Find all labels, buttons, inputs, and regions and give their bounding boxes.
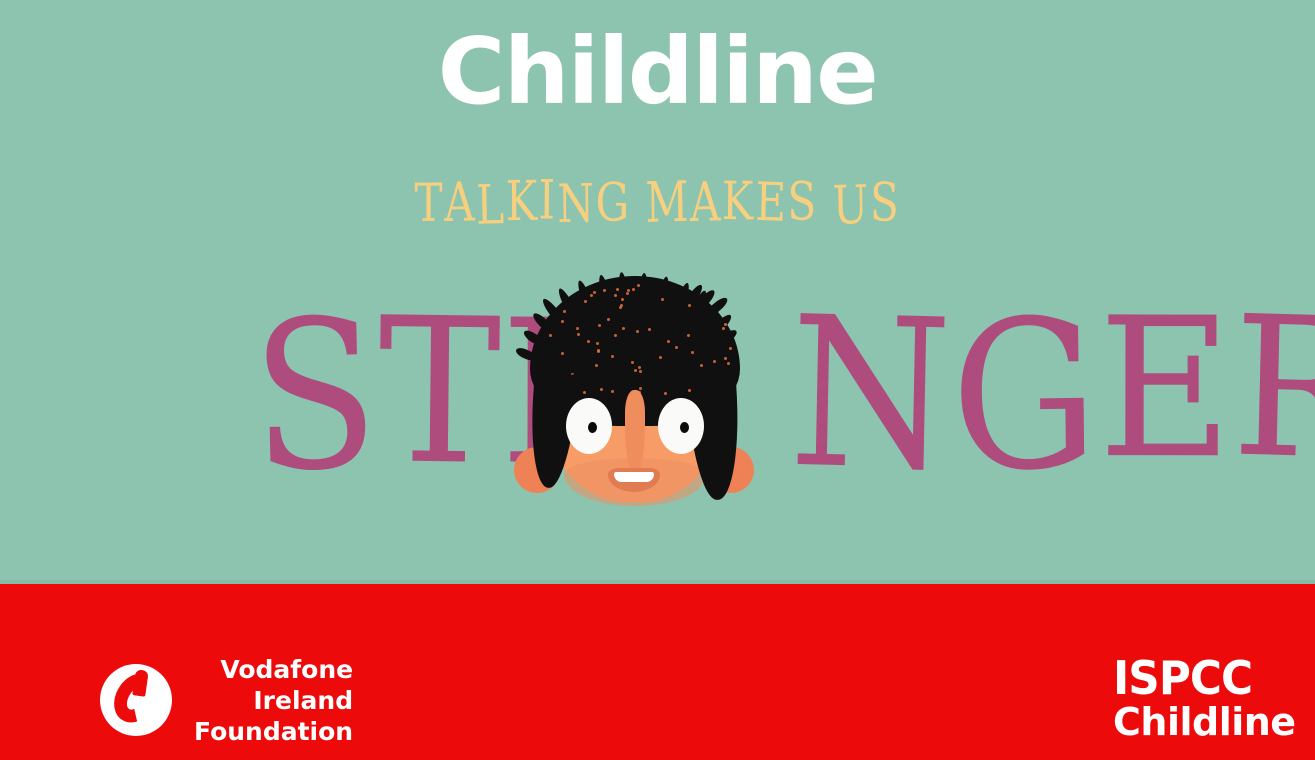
poster-canvas: Childline TALKING MAKES US STR NGER <box>0 0 1315 760</box>
hair-speckle <box>631 361 634 364</box>
tagline-text: TALKING MAKES US <box>415 171 901 234</box>
child-face-illustration <box>508 272 760 512</box>
hair-speckle <box>593 291 596 294</box>
pupil-right <box>680 422 689 433</box>
hair-speckle <box>587 340 590 343</box>
tagline: TALKING MAKES US <box>145 176 1171 230</box>
hair-speckle <box>639 370 642 373</box>
hair-speckle <box>611 390 614 393</box>
hair-speckle <box>616 288 619 291</box>
hair-speckle <box>688 389 691 392</box>
hair-speckle <box>638 366 641 369</box>
ispcc-wordmark: ISPCC <box>1113 656 1275 700</box>
pupil-left <box>588 422 597 433</box>
vodafone-ireland-foundation-logo: Vodafone Ireland Foundation <box>100 650 400 750</box>
hair-speckle <box>619 306 622 309</box>
hair-speckle <box>627 289 630 292</box>
hair-speckle <box>648 328 651 331</box>
hair-speckle <box>583 391 586 394</box>
hair-speckle <box>713 360 716 363</box>
hair-speckle <box>611 355 614 358</box>
vodafone-line-3: Foundation <box>194 716 353 747</box>
hair-speckle <box>722 327 725 330</box>
vodafone-line-2: Ireland <box>194 685 353 716</box>
ispcc-childline-sub: Childline <box>1113 702 1283 742</box>
hair-speckle <box>576 327 579 330</box>
hair-speckle <box>727 362 730 365</box>
hair-speckle <box>634 369 637 372</box>
hair-speckle <box>636 330 639 333</box>
hair-speckle <box>659 356 662 359</box>
hair-speckle <box>561 320 564 323</box>
hair-speckle <box>614 334 617 337</box>
hair-speckle <box>664 392 667 395</box>
hair-speckle <box>639 387 642 390</box>
hair-speckle <box>596 342 599 345</box>
ispcc-childline-logo: ISPCC Childline <box>1113 656 1283 742</box>
hair-speckle <box>637 284 640 287</box>
headline-part-right: NGER <box>790 292 1315 492</box>
teeth <box>614 472 654 482</box>
vodafone-line-1: Vodafone <box>194 654 353 685</box>
vodafone-speechmark-icon <box>100 664 172 736</box>
hair-speckle <box>667 340 670 343</box>
hair-speckle <box>724 357 727 360</box>
hair-speckle <box>700 364 703 367</box>
hair-speckle <box>600 388 603 391</box>
hair-speckle <box>595 364 598 367</box>
childline-wordmark: Childline <box>0 26 1315 118</box>
vodafone-logo-text: Vodafone Ireland Foundation <box>194 654 353 747</box>
